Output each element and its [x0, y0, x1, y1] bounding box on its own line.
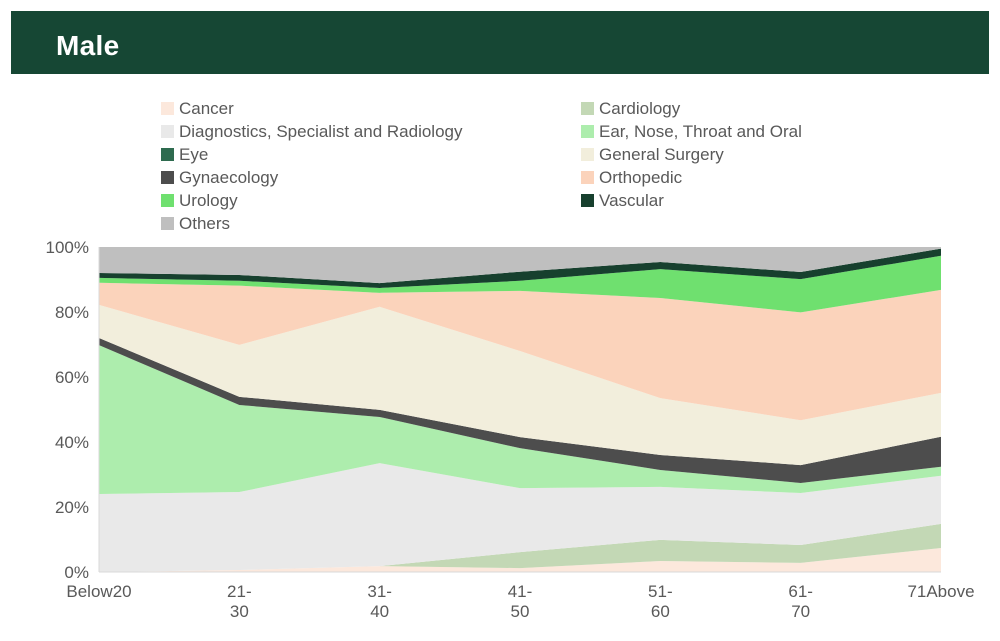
plot-area: 0%20%40%60%80%100% Below2021-3031-4041-5…	[11, 74, 989, 630]
chart-page: Male CancerDiagnostics, Specialist and R…	[0, 0, 1000, 641]
page-title: Male	[56, 30, 119, 62]
chart-card: CancerDiagnostics, Specialist and Radiol…	[11, 74, 989, 630]
stacked-area-plot	[11, 74, 989, 630]
header-bar: Male	[11, 11, 989, 74]
